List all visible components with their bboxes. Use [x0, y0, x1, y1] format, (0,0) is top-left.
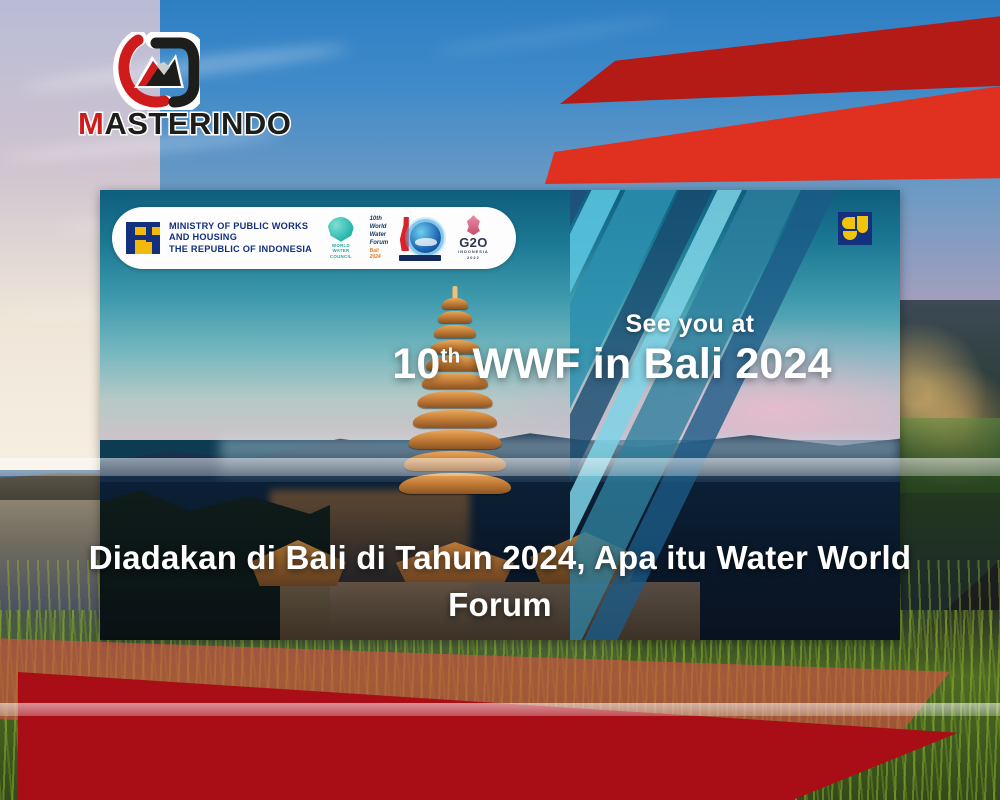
world-water-council-label: WORLD WATER COUNCIL: [321, 243, 360, 260]
water-drop-icon: [327, 217, 354, 242]
banner-subheadline: See you at: [520, 310, 860, 339]
thumbnail-canvas: MASTERINDO: [0, 0, 1000, 800]
banner-headline-rest: WWF in Bali 2024: [460, 340, 831, 388]
wwf-line-3: Water: [370, 231, 391, 239]
banner-logo-pill: MINISTRY OF PUBLIC WORKS AND HOUSING THE…: [112, 207, 516, 269]
wwf-forum-label: 10th World Water Forum Bali 2024: [370, 215, 391, 261]
wwf-line-4: Forum: [370, 239, 391, 247]
banner-headline: 10th WWF in Bali 2024: [362, 340, 862, 389]
wwf-line-1: 10th: [370, 215, 391, 223]
brand-initial: M: [78, 106, 104, 141]
g20-logo: G2O INDONESIA 2022: [451, 215, 496, 261]
world-water-council-logo: WORLD WATER COUNCIL: [321, 217, 360, 260]
wwc-line-3: COUNCIL: [321, 254, 360, 260]
wwf-line-5: Bali 2024: [370, 248, 391, 262]
g20-title: G2O: [451, 236, 496, 249]
pu-ministry-logo-icon: [126, 222, 160, 254]
brand-wordmark: MASTERINDO: [78, 106, 263, 142]
pu-ministry-logo-icon-corner: [838, 212, 872, 245]
world-water-forum-logo: 10th World Water Forum Bali 2024: [370, 215, 442, 261]
mountain-swoosh-logo-icon: [108, 32, 200, 110]
ministry-name: MINISTRY OF PUBLIC WORKS AND HOUSING THE…: [169, 221, 321, 255]
g20-sub-year: 2022: [451, 255, 496, 261]
brand-name-rest: ASTERINDO: [104, 106, 291, 141]
page-title: Diadakan di Bali di Tahun 2024, Apa itu …: [60, 535, 940, 629]
masterindo-logo[interactable]: MASTERINDO: [78, 32, 263, 144]
ministry-line-1: MINISTRY OF PUBLIC WORKS AND HOUSING: [169, 221, 321, 243]
globe-ten-icon: [393, 217, 442, 261]
ministry-line-2: THE REPUBLIC OF INDONESIA: [169, 244, 321, 255]
banner-headline-ordinal: th: [441, 345, 461, 368]
g20-ornament-icon: [465, 215, 482, 235]
wwf-line-2: World: [370, 223, 391, 231]
banner-headline-number: 10: [392, 340, 440, 388]
bali-pagoda-temple: [390, 298, 520, 548]
